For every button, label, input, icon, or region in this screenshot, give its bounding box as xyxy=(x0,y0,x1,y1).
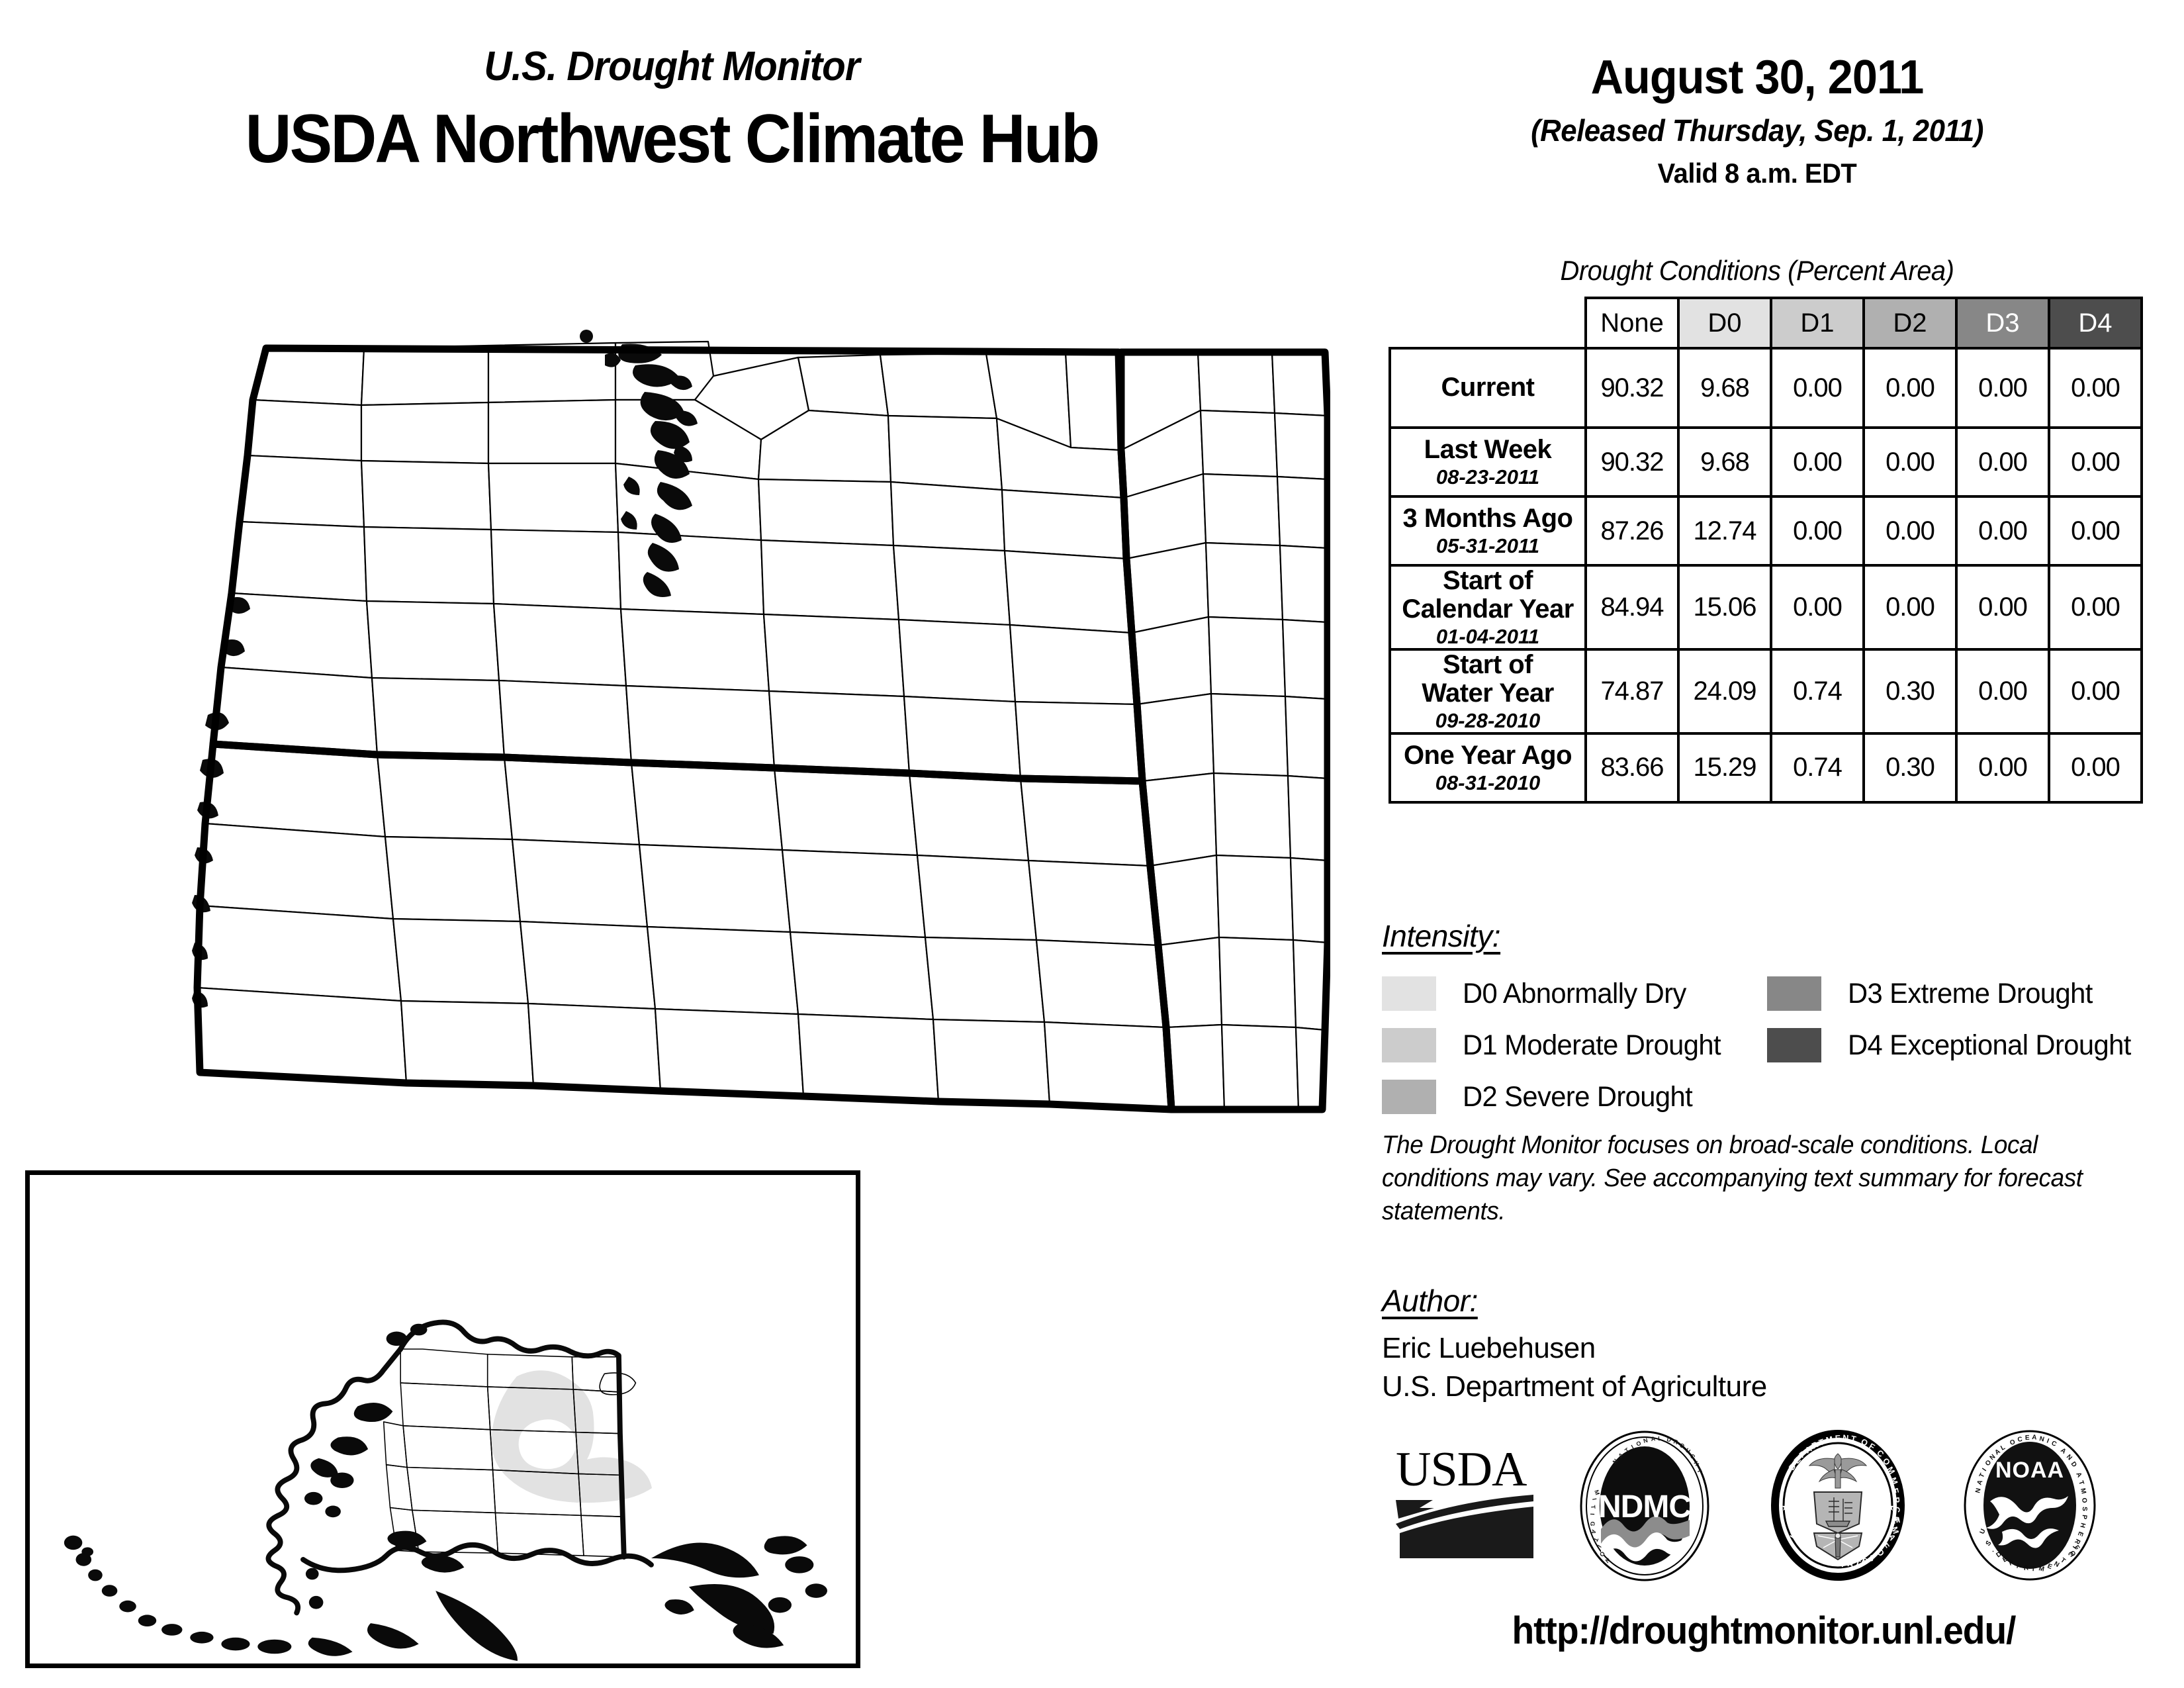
cell-d4: 0.00 xyxy=(2049,496,2142,565)
legend-swatch-icon xyxy=(1382,976,1436,1011)
row-date: 08-31-2010 xyxy=(1391,772,1584,794)
author-name: Eric Luebehusen xyxy=(1382,1329,1767,1368)
table-row: Current90.329.680.000.000.000.00 xyxy=(1390,348,2142,428)
cell-d2: 0.00 xyxy=(1864,496,1956,565)
svg-text:I: I xyxy=(2046,1438,2050,1445)
product-subtitle: U.S. Drought Monitor xyxy=(40,46,1303,87)
cell-d2: 0.30 xyxy=(1864,733,1956,802)
legend-column-right: D3 Extreme DroughtD4 Exceptional Drought xyxy=(1767,968,2140,1071)
svg-text:N: N xyxy=(1843,1433,1849,1443)
svg-text:I: I xyxy=(1630,1444,1635,1450)
cell-d0: 9.68 xyxy=(1678,428,1771,496)
svg-text:A: A xyxy=(1993,1448,2001,1456)
legend-swatch-icon xyxy=(1767,976,1821,1011)
ndmc-logo: NDMC NA TI ON AL DR OU GH T MI TI GA TI … xyxy=(1578,1430,1711,1582)
intensity-heading: Intensity: xyxy=(1382,918,1500,954)
svg-text:R: R xyxy=(2073,1538,2081,1546)
legend-item: D1 Moderate Drought xyxy=(1382,1019,1729,1071)
alaska-d0-region xyxy=(491,1370,652,1503)
svg-text:O: O xyxy=(2080,1497,2088,1503)
svg-text:E: E xyxy=(2076,1530,2085,1537)
cell-d0: 12.74 xyxy=(1678,496,1771,565)
table-row: Start ofCalendar Year01-04-201184.9415.0… xyxy=(1390,565,2142,649)
legend-label: D4 Exceptional Drought xyxy=(1848,1029,2131,1062)
svg-text:I: I xyxy=(1591,1498,1598,1501)
cell-none: 90.32 xyxy=(1586,348,1678,428)
legend-column-left: D0 Abnormally DryD1 Moderate DroughtD2 S… xyxy=(1382,968,1729,1123)
svg-text:N: N xyxy=(1974,1487,1982,1494)
svg-text:T: T xyxy=(2077,1479,2085,1485)
svg-text:H: H xyxy=(2078,1522,2086,1528)
cell-d1: 0.74 xyxy=(1771,733,1864,802)
svg-text:A: A xyxy=(1976,1479,1985,1486)
drought-conditions-table: NoneD0D1D2D3D4 Current90.329.680.000.000… xyxy=(1388,297,2143,804)
cell-d1: 0.00 xyxy=(1771,428,1864,496)
issue-date: August 30, 2011 xyxy=(1377,53,2138,103)
cell-none: 83.66 xyxy=(1586,733,1678,802)
svg-text:.: . xyxy=(1989,1547,1995,1554)
valid-time: Valid 8 a.m. EDT xyxy=(1377,158,2138,189)
svg-text:M: M xyxy=(2038,1565,2044,1573)
cell-d3: 0.00 xyxy=(1956,565,2049,649)
agency-logos: USDA NDMC NA TI ON AL DR OU GH T MI TI G… xyxy=(1387,1430,2167,1582)
cell-d4: 0.00 xyxy=(2049,733,2142,802)
legend-label: D3 Extreme Drought xyxy=(1848,978,2093,1010)
cell-d2: 0.00 xyxy=(1864,348,1956,428)
svg-text:S: S xyxy=(2081,1507,2088,1511)
cell-d0: 24.09 xyxy=(1678,649,1771,733)
svg-text:NOAA: NOAA xyxy=(1995,1458,2064,1483)
legend-label: D1 Moderate Drought xyxy=(1463,1029,1721,1062)
svg-text:USDA: USDA xyxy=(1396,1444,1527,1497)
column-header-d4: D4 xyxy=(2049,298,2142,348)
svg-text:N: N xyxy=(1643,1437,1649,1444)
row-label: Current xyxy=(1390,348,1586,428)
svg-text:T: T xyxy=(2059,1557,2066,1565)
legend-swatch-icon xyxy=(1382,1080,1436,1114)
svg-text:★: ★ xyxy=(1886,1502,1895,1513)
svg-text:D: D xyxy=(2070,1460,2078,1468)
cell-none: 90.32 xyxy=(1586,428,1678,496)
cell-d0: 15.06 xyxy=(1678,565,1771,649)
cell-d1: 0.00 xyxy=(1771,348,1864,428)
cell-d3: 0.00 xyxy=(1956,428,2049,496)
legend-label: D2 Severe Drought xyxy=(1463,1081,1692,1113)
svg-text:L: L xyxy=(1658,1435,1662,1442)
cell-d1: 0.00 xyxy=(1771,496,1864,565)
svg-text:L: L xyxy=(1999,1444,2006,1452)
legend-label: D0 Abnormally Dry xyxy=(1463,978,1686,1010)
row-label: Start ofWater Year09-28-2010 xyxy=(1390,649,1586,733)
column-header-d2: D2 xyxy=(1864,298,1956,348)
cell-d2: 0.00 xyxy=(1864,428,1956,496)
svg-text:E: E xyxy=(2025,1434,2030,1442)
svg-text:A: A xyxy=(1846,1559,1854,1569)
svg-text:U: U xyxy=(1979,1528,1987,1535)
legend-item: D4 Exceptional Drought xyxy=(1767,1019,2140,1071)
row-date: 09-28-2010 xyxy=(1391,710,1584,731)
row-label: Start ofCalendar Year01-04-2011 xyxy=(1390,565,1586,649)
alaska-inset-map[interactable] xyxy=(30,1175,856,1664)
date-block: August 30, 2011 (Released Thursday, Sep.… xyxy=(1357,53,2158,189)
usda-logo: USDA xyxy=(1393,1444,1535,1560)
cell-d4: 0.00 xyxy=(2049,428,2142,496)
svg-text:★: ★ xyxy=(1781,1502,1790,1513)
svg-text:NDMC: NDMC xyxy=(1598,1489,1691,1524)
svg-text:O: O xyxy=(2009,1438,2017,1447)
cell-d2: 0.30 xyxy=(1864,649,1956,733)
svg-text:A: A xyxy=(1651,1435,1656,1442)
author-heading: Author: xyxy=(1382,1283,1478,1319)
column-header-none: None xyxy=(1586,298,1678,348)
svg-text:N: N xyxy=(2038,1435,2045,1443)
title-block: U.S. Drought Monitor USDA Northwest Clim… xyxy=(0,46,1343,175)
svg-text:T: T xyxy=(2031,1566,2036,1573)
svg-text:T: T xyxy=(1590,1505,1596,1509)
cell-d3: 0.00 xyxy=(1956,348,2049,428)
cell-none: 87.26 xyxy=(1586,496,1678,565)
row-label: 3 Months Ago05-31-2011 xyxy=(1390,496,1586,565)
svg-text:O: O xyxy=(1635,1440,1642,1448)
noaa-logo: NOAA NA TI ON AL OC EA NI CA ND AT MO SP… xyxy=(1962,1430,2098,1581)
disclaimer-text: The Drought Monitor focuses on broad-sca… xyxy=(1382,1129,2095,1228)
svg-text:A: A xyxy=(2032,1434,2037,1442)
alaska-inset-frame xyxy=(25,1170,860,1668)
legend-item: D2 Severe Drought xyxy=(1382,1071,1729,1123)
cell-none: 84.94 xyxy=(1586,565,1678,649)
svg-text:C: C xyxy=(2050,1440,2058,1448)
legend-swatch-icon xyxy=(1767,1028,1821,1062)
cell-d3: 0.00 xyxy=(1956,496,2049,565)
legend-item: D0 Abnormally Dry xyxy=(1382,968,1729,1019)
cell-d4: 0.00 xyxy=(2049,649,2142,733)
svg-text:P: P xyxy=(2080,1515,2088,1520)
svg-text:I: I xyxy=(1589,1513,1596,1515)
cell-d3: 0.00 xyxy=(1956,649,2049,733)
cell-d0: 15.29 xyxy=(1678,733,1771,802)
table-corner-cell xyxy=(1390,298,1586,348)
author-affiliation: U.S. Department of Agriculture xyxy=(1382,1368,1767,1406)
svg-text:T: T xyxy=(1840,1560,1846,1569)
row-label: One Year Ago08-31-2010 xyxy=(1390,733,1586,802)
column-header-d0: D0 xyxy=(1678,298,1771,348)
table-row: Start ofWater Year09-28-201074.8724.090.… xyxy=(1390,649,2142,733)
page-title: USDA Northwest Climate Hub xyxy=(47,103,1297,175)
cell-d4: 0.00 xyxy=(2049,348,2142,428)
svg-text:A: A xyxy=(2059,1447,2067,1456)
doc-logo: DE PA RT ME NT OF CO MM ER CE UN IT ED S… xyxy=(1770,1430,1906,1581)
cell-none: 74.87 xyxy=(1586,649,1678,733)
table-row: Last Week08-23-201190.329.680.000.000.00… xyxy=(1390,428,2142,496)
table-row: One Year Ago08-31-201083.6615.290.740.30… xyxy=(1390,733,2142,802)
release-date: (Released Thursday, Sep. 1, 2011) xyxy=(1377,113,2138,148)
cell-d4: 0.00 xyxy=(2049,565,2142,649)
legend-item: D3 Extreme Drought xyxy=(1767,968,2140,1019)
svg-text:I: I xyxy=(1981,1467,1988,1473)
column-header-d3: D3 xyxy=(1956,298,2049,348)
pacific-northwest-map[interactable] xyxy=(139,318,1330,1145)
table-caption: Drought Conditions (Percent Area) xyxy=(1377,255,2138,287)
svg-text:E: E xyxy=(1835,1434,1841,1443)
svg-text:G: G xyxy=(1589,1521,1596,1527)
cell-d1: 0.74 xyxy=(1771,649,1864,733)
table-row: 3 Months Ago05-31-201187.2612.740.000.00… xyxy=(1390,496,2142,565)
svg-text:T: T xyxy=(1978,1472,1987,1479)
row-date: 08-23-2011 xyxy=(1391,466,1584,488)
author-block: Eric Luebehusen U.S. Department of Agric… xyxy=(1382,1329,1767,1406)
cell-d3: 0.00 xyxy=(1956,733,2049,802)
row-label: Last Week08-23-2011 xyxy=(1390,428,1586,496)
svg-text:A: A xyxy=(2074,1471,2083,1478)
table-header-row: NoneD0D1D2D3D4 xyxy=(1390,298,2142,348)
drought-monitor-url[interactable]: http://droughtmonitor.unl.edu/ xyxy=(1377,1609,2151,1653)
cell-d0: 9.68 xyxy=(1678,348,1771,428)
svg-text:M: M xyxy=(2079,1487,2087,1495)
cell-d1: 0.00 xyxy=(1771,565,1864,649)
row-date: 01-04-2011 xyxy=(1391,626,1584,647)
cell-d2: 0.00 xyxy=(1864,565,1956,649)
legend-swatch-icon xyxy=(1382,1028,1436,1062)
column-header-d1: D1 xyxy=(1771,298,1864,348)
svg-text:N: N xyxy=(2065,1453,2073,1462)
svg-text:C: C xyxy=(2017,1436,2023,1444)
row-date: 05-31-2011 xyxy=(1391,535,1584,557)
